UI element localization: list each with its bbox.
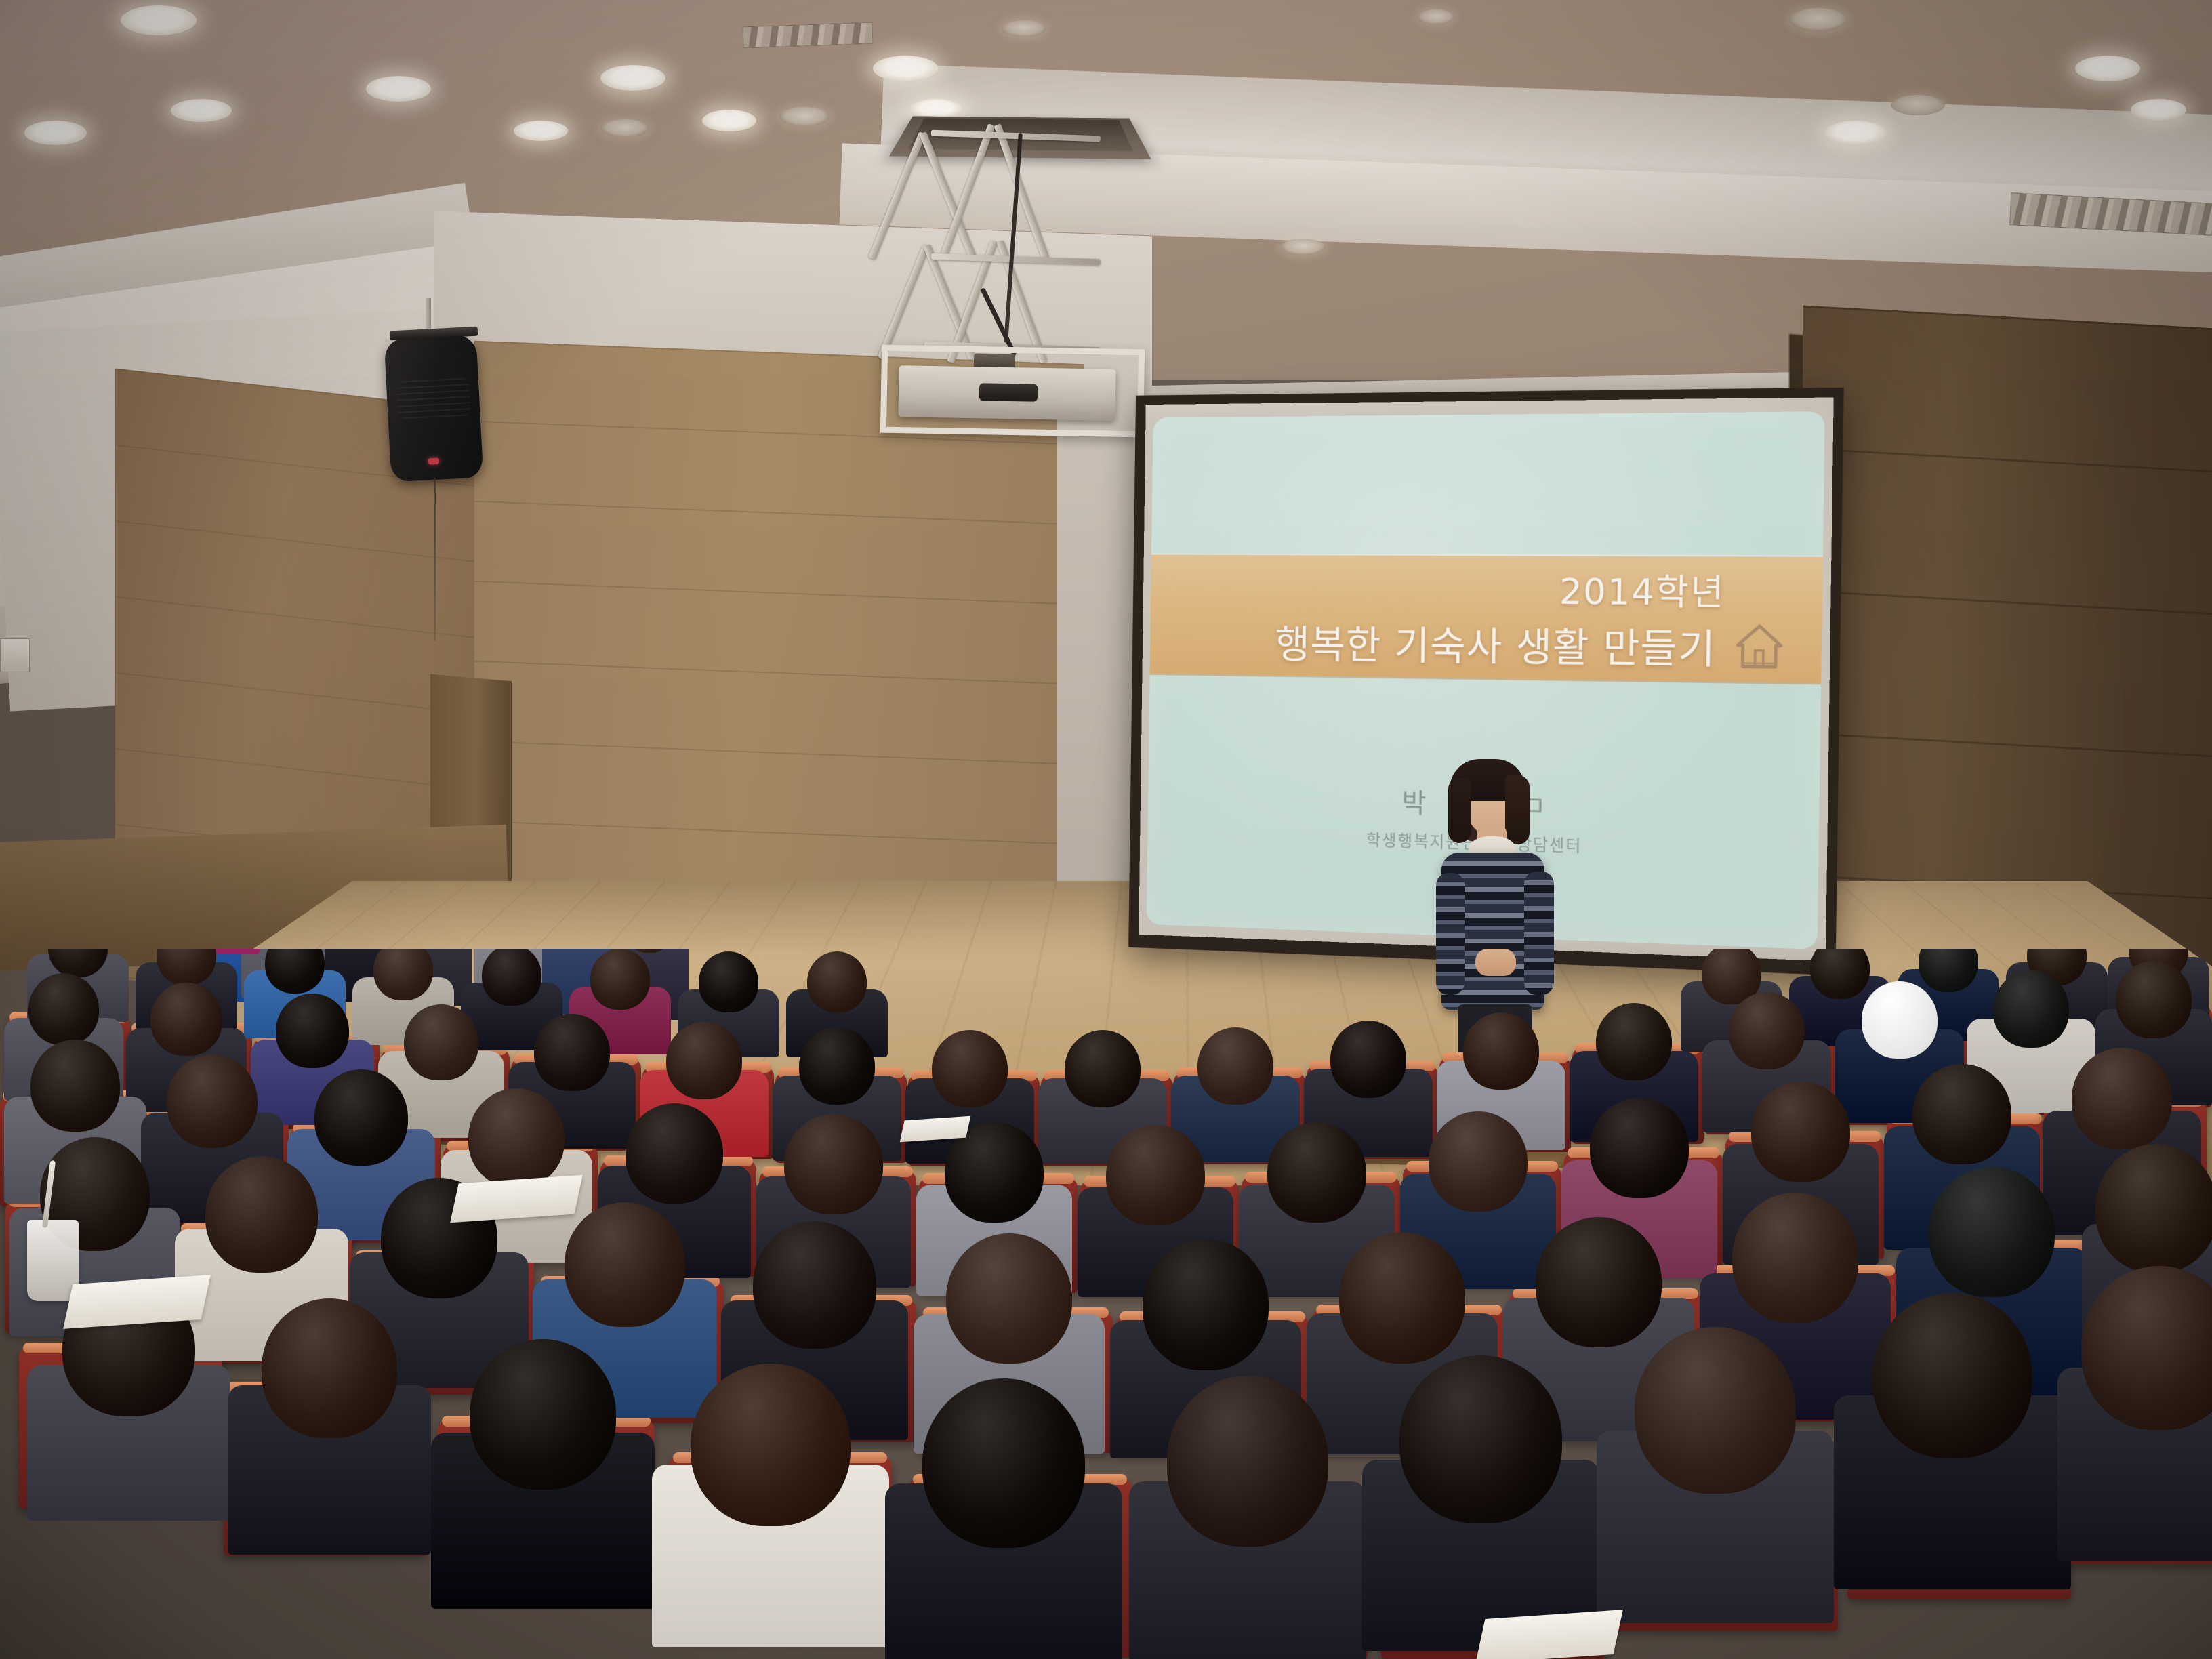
audience-head (565, 1202, 685, 1327)
audience-head (699, 951, 758, 1012)
projector-lens-icon (979, 383, 1038, 401)
audience-head (1729, 992, 1805, 1069)
audience-head (150, 983, 222, 1056)
audience-head (482, 949, 541, 1006)
audience-seating-area (0, 949, 2212, 1659)
audience-head (28, 973, 99, 1045)
audience-head (1929, 1167, 2055, 1297)
audience-head (373, 949, 433, 1000)
audience-head (262, 1298, 397, 1438)
audience-head (1267, 1122, 1366, 1223)
downlight-19 (1281, 239, 1326, 255)
downlight-4 (366, 76, 431, 102)
downlight-10 (873, 56, 938, 81)
audience-head (1872, 1293, 2032, 1458)
audience-head (932, 1030, 1008, 1107)
speaker-grille (396, 377, 472, 419)
audience-head (784, 1114, 883, 1214)
speaker-cable (434, 478, 436, 640)
audience-head (1065, 1030, 1141, 1107)
audience-head (2095, 1144, 2212, 1273)
audience-head (1596, 1003, 1672, 1080)
downlight-2 (24, 121, 87, 145)
downlight-7 (600, 119, 649, 137)
downlight-9 (779, 107, 829, 126)
downlight-12 (1002, 20, 1046, 37)
audience-head (1429, 1111, 1528, 1212)
presenter-hair-right (1505, 775, 1530, 844)
audience-head (205, 1156, 318, 1273)
downlight-17 (2131, 99, 2186, 121)
downlight-8 (702, 110, 756, 131)
audience-head (1330, 1021, 1406, 1098)
audience-head (1143, 1239, 1269, 1370)
audience-head (1197, 1027, 1273, 1105)
audience-head (753, 1221, 876, 1349)
audience-head (590, 949, 650, 1010)
audience-head (1993, 970, 2069, 1048)
ceiling-vent-center (743, 22, 874, 49)
audience-head (1862, 981, 1938, 1059)
audience-head (167, 1054, 258, 1148)
audience-head (404, 1004, 478, 1080)
slide-year-text: 2014학년 (1559, 562, 1786, 615)
audience-head (2116, 961, 2192, 1038)
downlight-16 (2075, 56, 2140, 81)
downlight-18 (1418, 9, 1454, 24)
downlight-1 (121, 5, 197, 35)
audience-head (1635, 1327, 1796, 1494)
downlight-3 (171, 99, 232, 122)
audience-head (30, 1040, 120, 1132)
audience-head (807, 951, 867, 1012)
audience-head (314, 1069, 408, 1166)
audience-head (626, 1103, 723, 1204)
audience-head (2072, 1048, 2172, 1149)
downlight-15 (1891, 95, 1945, 115)
audience-head (1167, 1376, 1328, 1547)
audience-head (468, 1088, 565, 1187)
audience-head (1536, 1217, 1662, 1347)
house-icon (1734, 622, 1785, 670)
slide-title-text: 행복한 기숙사 생활 만들기 (1275, 613, 1716, 674)
audience-head (946, 1233, 1072, 1364)
wall-outlet-left (0, 638, 30, 672)
audience-head (470, 1339, 616, 1490)
downlight-5 (514, 121, 568, 141)
audience-head (1732, 1193, 1858, 1323)
slide-title-band: 2014학년 행복한 기숙사 생활 만들기 (1150, 554, 1823, 683)
audience-head (666, 1022, 742, 1099)
auditorium-lecture-photo: 2014학년 행복한 기숙사 생활 만들기 박 정 ㅁ 학생행복지원단 학생상담… (0, 0, 2212, 1659)
audience-head (1912, 1064, 2011, 1164)
slide-title-row: 행복한 기숙사 생활 만들기 (1275, 613, 1785, 676)
audience-head (1106, 1125, 1205, 1225)
presenter-hair-left (1448, 778, 1471, 843)
audience-head (1399, 1355, 1562, 1523)
audience-head (1751, 1082, 1850, 1182)
audience-head (1810, 949, 1870, 999)
speaker-power-led (428, 458, 439, 465)
drink-cup (27, 1220, 79, 1301)
audience-head (1590, 1098, 1689, 1198)
audience-head (1339, 1232, 1465, 1364)
downlight-14 (1824, 121, 1887, 145)
downlight-6 (600, 65, 665, 91)
audience-head (1463, 1012, 1539, 1090)
audience-head (922, 1378, 1085, 1548)
audience-head (799, 1027, 875, 1105)
downlight-13 (1789, 8, 1847, 31)
audience-head (691, 1364, 851, 1526)
audience-head (276, 994, 349, 1068)
audience-head (534, 1014, 610, 1091)
